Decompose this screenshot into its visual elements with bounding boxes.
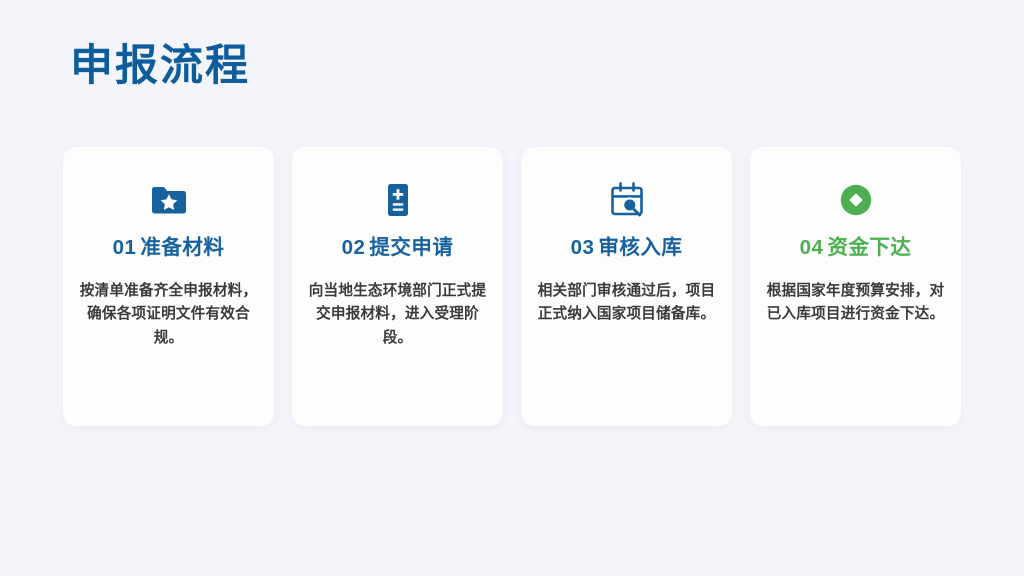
step-title: 资金下达 [827, 236, 911, 259]
step-number: 03 [571, 236, 595, 259]
step-number: 02 [342, 236, 366, 259]
step-title: 准备材料 [140, 236, 224, 259]
step-card-description: 按清单准备齐全申报材料，确保各项证明文件有效合规。 [77, 280, 260, 351]
slide-root: 申报流程 01准备材料 按清单准备齐全申报材料，确保各项证明文件有效合规。 [0, 0, 1024, 576]
form-plus-icon [375, 177, 421, 223]
step-title: 审核入库 [598, 236, 682, 259]
step-card-04[interactable]: 04资金下达 根据国家年度预算安排，对已入库项目进行资金下达。 [750, 147, 961, 426]
step-card-description: 向当地生态环境部门正式提交申报材料，进入受理阶段。 [306, 280, 489, 351]
step-number: 04 [800, 236, 824, 259]
step-number: 01 [113, 236, 137, 259]
step-card-02[interactable]: 02提交申请 向当地生态环境部门正式提交申报材料，进入受理阶段。 [292, 147, 503, 426]
page-title: 申报流程 [70, 42, 250, 91]
process-step-cards: 01准备材料 按清单准备齐全申报材料，确保各项证明文件有效合规。 02提交申请 … [63, 147, 961, 426]
calendar-search-icon [604, 177, 650, 223]
step-card-03[interactable]: 03审核入库 相关部门审核通过后，项目正式纳入国家项目储备库。 [521, 147, 732, 426]
step-card-description: 根据国家年度预算安排，对已入库项目进行资金下达。 [764, 280, 947, 327]
step-card-01[interactable]: 01准备材料 按清单准备齐全申报材料，确保各项证明文件有效合规。 [63, 147, 274, 426]
folder-star-icon [146, 177, 192, 223]
step-card-heading: 03审核入库 [571, 236, 683, 261]
step-card-heading: 02提交申请 [342, 236, 454, 261]
step-card-description: 相关部门审核通过后，项目正式纳入国家项目储备库。 [535, 280, 718, 327]
step-card-heading: 04资金下达 [800, 236, 912, 261]
circle-diamond-icon [833, 177, 879, 223]
step-card-heading: 01准备材料 [113, 236, 225, 261]
step-title: 提交申请 [369, 236, 453, 259]
